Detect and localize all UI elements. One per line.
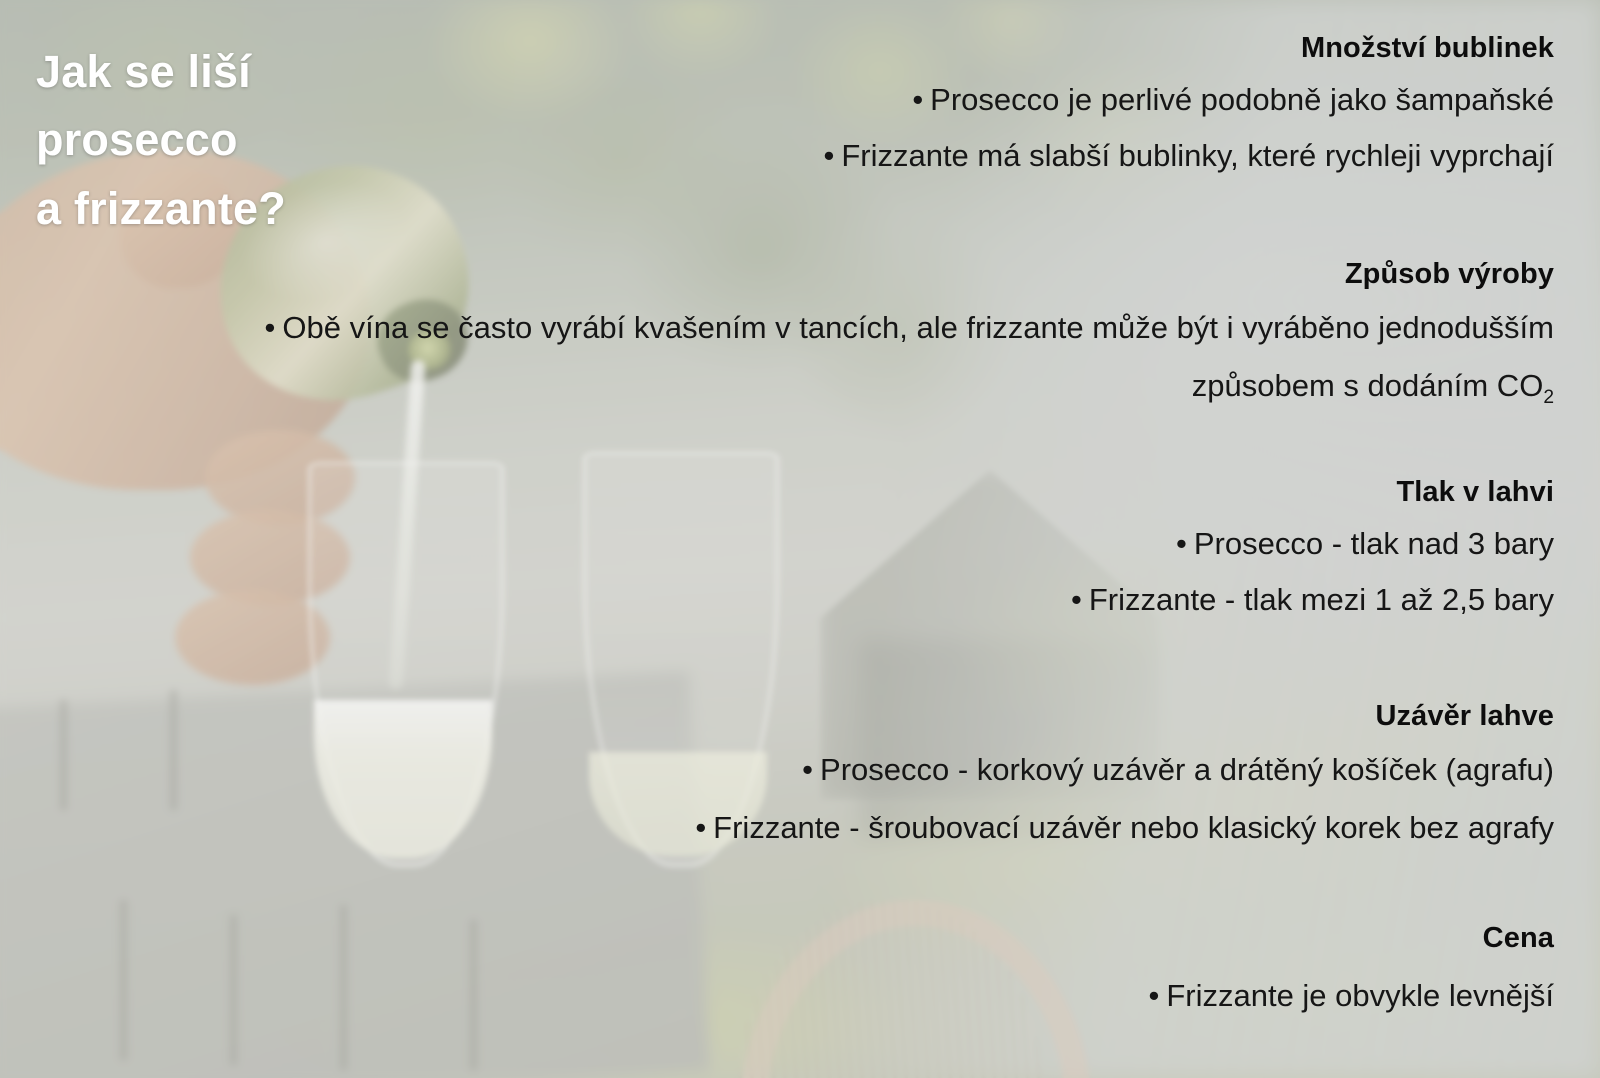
- bullet-dot-icon: •: [823, 138, 834, 173]
- slide-canvas: Jak se liší prosecco a frizzante? Množst…: [0, 0, 1600, 1078]
- section-heading: Uzávěr lahve: [70, 698, 1554, 734]
- bullet-text: Prosecco - tlak nad 3 bary: [1194, 526, 1554, 561]
- bullet-item: •Frizzante je obvykle levnější: [70, 974, 1554, 1018]
- vineyard-post: [60, 700, 67, 810]
- bullet-text: Prosecco je perlivé podobně jako šampaňs…: [930, 82, 1554, 117]
- section-heading: Množství bublinek: [70, 30, 1554, 66]
- bullet-item: •Prosecco je perlivé podobně jako šampaň…: [70, 78, 1554, 122]
- bullet-item: •Frizzante - šroubovací uzávěr nebo klas…: [70, 806, 1554, 850]
- bullet-text: Frizzante - šroubovací uzávěr nebo klasi…: [713, 810, 1554, 845]
- bullet-text: Frizzante - tlak mezi 1 až 2,5 bary: [1089, 582, 1554, 617]
- bullet-text: Frizzante je obvykle levnější: [1166, 978, 1554, 1013]
- bullet-dot-icon: •: [1071, 582, 1082, 617]
- section-cena: Cena •Frizzante je obvykle levnější: [70, 920, 1554, 1018]
- bullet-dot-icon: •: [802, 752, 813, 787]
- subscript-two: 2: [1543, 387, 1554, 408]
- section-heading: Cena: [70, 920, 1554, 956]
- section-heading: Způsob výroby: [70, 256, 1554, 292]
- section-uzaver-lahve: Uzávěr lahve •Prosecco - korkový uzávěr …: [70, 698, 1554, 850]
- section-mnozstvi-bublinek: Množství bublinek •Prosecco je perlivé p…: [70, 30, 1554, 178]
- section-heading: Tlak v lahvi: [70, 474, 1554, 510]
- bullet-item: •Frizzante - tlak mezi 1 až 2,5 bary: [70, 578, 1554, 622]
- bullet-dot-icon: •: [695, 810, 706, 845]
- bullet-dot-icon: •: [912, 82, 923, 117]
- content-column: Množství bublinek •Prosecco je perlivé p…: [70, 0, 1554, 1078]
- bullet-item: •Frizzante má slabší bublinky, které ryc…: [70, 134, 1554, 178]
- bullet-item: •Prosecco - korkový uzávěr a drátěný koš…: [70, 748, 1554, 792]
- bullet-continuation: způsobem s dodáním CO2: [70, 364, 1554, 411]
- bullet-dot-icon: •: [265, 310, 276, 345]
- bullet-dot-icon: •: [1176, 526, 1187, 561]
- section-tlak-v-lahvi: Tlak v lahvi •Prosecco - tlak nad 3 bary…: [70, 474, 1554, 622]
- bullet-item: •Prosecco - tlak nad 3 bary: [70, 522, 1554, 566]
- section-zpusob-vyroby: Způsob výroby •Obě vína se často vyrábí …: [70, 256, 1554, 412]
- bullet-text: Frizzante má slabší bublinky, které rych…: [841, 138, 1554, 173]
- bullet-dot-icon: •: [1148, 978, 1159, 1013]
- bullet-text: Prosecco - korkový uzávěr a drátěný koší…: [820, 752, 1554, 787]
- bullet-item: •Obě vína se často vyrábí kvašením v tan…: [70, 306, 1554, 350]
- bullet-text: Obě vína se často vyrábí kvašením v tanc…: [282, 310, 1554, 345]
- bullet-continuation-text: způsobem s dodáním CO: [1192, 368, 1544, 403]
